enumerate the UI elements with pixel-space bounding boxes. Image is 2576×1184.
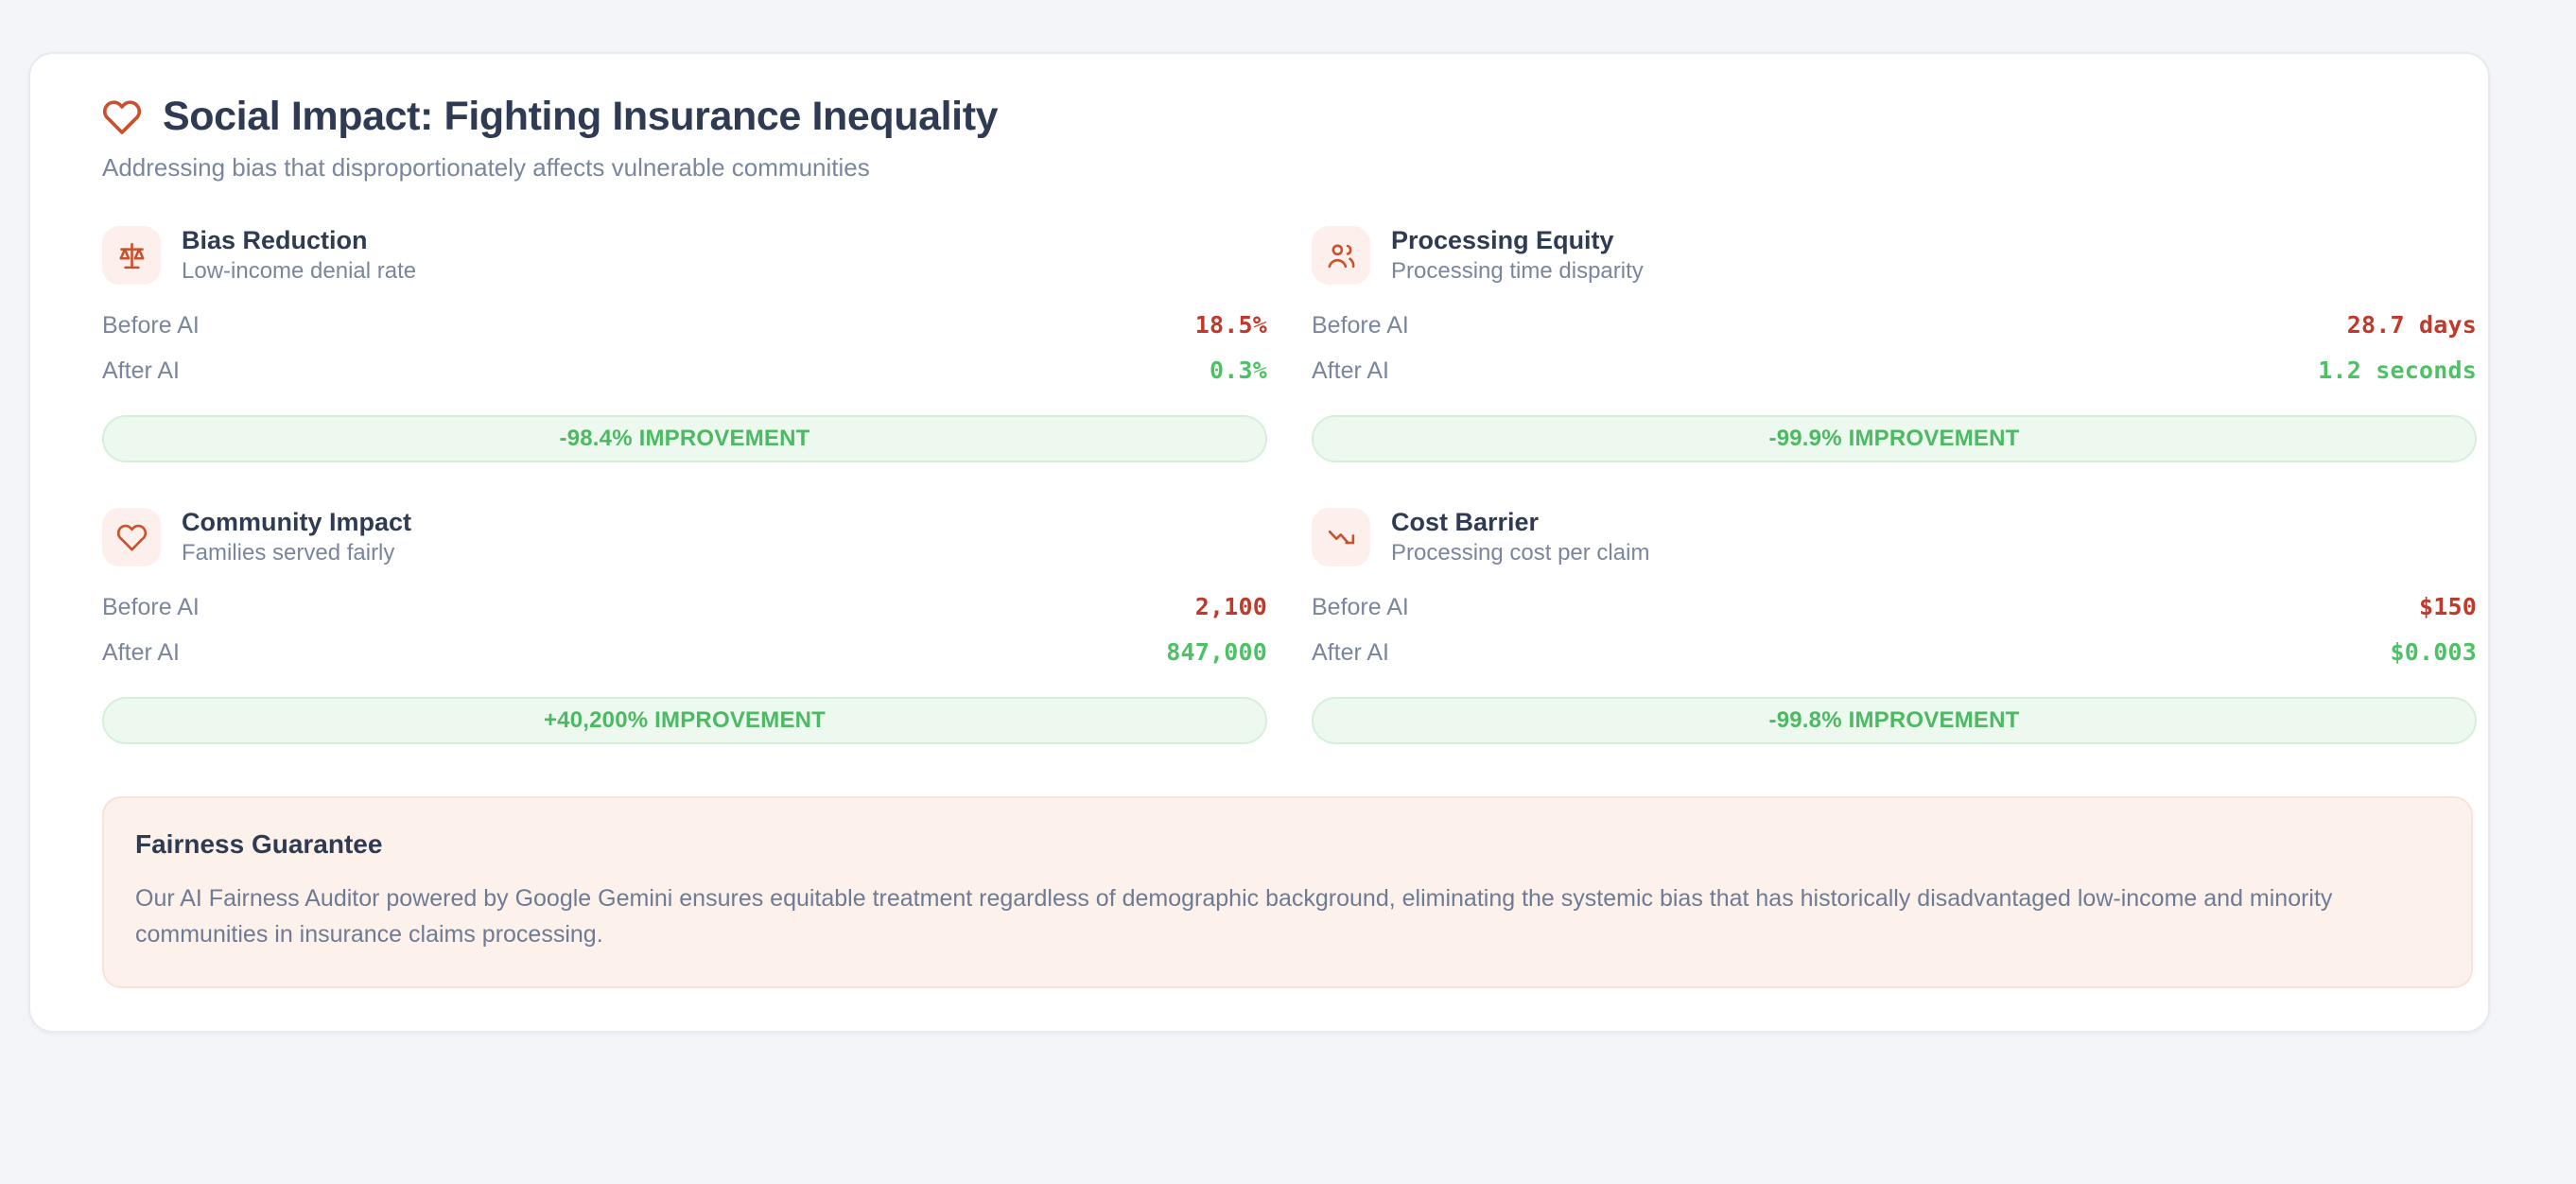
fairness-guarantee-panel: Fairness Guarantee Our AI Fairness Audit… [102, 796, 2473, 988]
users-icon [1312, 226, 1370, 285]
improvement-label: +40,200% IMPROVEMENT [544, 707, 826, 734]
metric-title: Processing Equity [1391, 227, 1644, 254]
metric-subtitle: Processing time disparity [1391, 259, 1644, 284]
metric-values: Before AI 18.5% After AI 0.3% [102, 311, 1267, 402]
metric-title: Community Impact [182, 509, 411, 536]
after-value: $0.003 [2390, 638, 2477, 666]
metric-header: Processing Equity Processing time dispar… [1312, 226, 2477, 285]
after-value: 0.3% [1210, 357, 1267, 384]
social-impact-panel: Social Impact: Fighting Insurance Inequa… [28, 52, 2490, 1033]
metric-card-processing-equity: Processing Equity Processing time dispar… [1312, 226, 2477, 462]
metric-row-before: Before AI 28.7 days [1312, 311, 2477, 357]
metric-row-after: After AI 0.3% [102, 357, 1267, 402]
metric-header: Bias Reduction Low-income denial rate [102, 226, 1267, 285]
metric-subtitle: Low-income denial rate [182, 259, 416, 284]
improvement-label: -99.9% IMPROVEMENT [1769, 426, 2020, 452]
metric-title: Cost Barrier [1391, 509, 1649, 536]
fairness-title: Fairness Guarantee [135, 829, 2440, 860]
metric-row-after: After AI $0.003 [1312, 638, 2477, 684]
panel-header: Social Impact: Fighting Insurance Inequa… [102, 94, 2443, 140]
metric-values: Before AI 2,100 After AI 847,000 [102, 593, 1267, 684]
after-value: 1.2 seconds [2318, 357, 2477, 384]
metric-subtitle: Families served fairly [182, 541, 411, 566]
before-label: Before AI [102, 594, 200, 621]
before-label: Before AI [1312, 312, 1409, 340]
metric-row-after: After AI 847,000 [102, 638, 1267, 684]
metric-card-community-impact: Community Impact Families served fairly … [102, 508, 1267, 744]
metric-title: Bias Reduction [182, 227, 416, 254]
before-value: 2,100 [1195, 593, 1267, 620]
after-label: After AI [1312, 357, 1389, 385]
heart-icon [102, 97, 142, 137]
metric-row-before: Before AI 2,100 [102, 593, 1267, 638]
scales-balance-icon [102, 226, 161, 285]
after-value: 847,000 [1166, 638, 1267, 666]
metric-row-before: Before AI $150 [1312, 593, 2477, 638]
before-label: Before AI [1312, 594, 1409, 621]
page-subtitle: Addressing bias that disproportionately … [102, 153, 2443, 183]
before-value: 28.7 days [2347, 311, 2477, 339]
page-title: Social Impact: Fighting Insurance Inequa… [163, 94, 998, 140]
metrics-grid: Bias Reduction Low-income denial rate Be… [102, 226, 2443, 744]
before-label: Before AI [102, 312, 200, 340]
metric-subtitle: Processing cost per claim [1391, 541, 1649, 566]
after-label: After AI [102, 639, 180, 667]
metric-header: Community Impact Families served fairly [102, 508, 1267, 566]
metric-row-after: After AI 1.2 seconds [1312, 357, 2477, 402]
improvement-badge: -99.8% IMPROVEMENT [1312, 697, 2477, 744]
metric-card-bias-reduction: Bias Reduction Low-income denial rate Be… [102, 226, 1267, 462]
after-label: After AI [102, 357, 180, 385]
metric-values: Before AI $150 After AI $0.003 [1312, 593, 2477, 684]
metric-card-cost-barrier: Cost Barrier Processing cost per claim B… [1312, 508, 2477, 744]
improvement-badge: -98.4% IMPROVEMENT [102, 415, 1267, 462]
improvement-label: -98.4% IMPROVEMENT [560, 426, 810, 452]
metric-header: Cost Barrier Processing cost per claim [1312, 508, 2477, 566]
metric-row-before: Before AI 18.5% [102, 311, 1267, 357]
trending-down-icon [1312, 508, 1370, 566]
before-value: $150 [2419, 593, 2477, 620]
before-value: 18.5% [1195, 311, 1267, 339]
improvement-label: -99.8% IMPROVEMENT [1769, 707, 2020, 734]
heart-icon [102, 508, 161, 566]
after-label: After AI [1312, 639, 1389, 667]
fairness-body: Our AI Fairness Auditor powered by Googl… [135, 880, 2405, 952]
improvement-badge: -99.9% IMPROVEMENT [1312, 415, 2477, 462]
metric-values: Before AI 28.7 days After AI 1.2 seconds [1312, 311, 2477, 402]
improvement-badge: +40,200% IMPROVEMENT [102, 697, 1267, 744]
page-root: Social Impact: Fighting Insurance Inequa… [0, 0, 2576, 1184]
